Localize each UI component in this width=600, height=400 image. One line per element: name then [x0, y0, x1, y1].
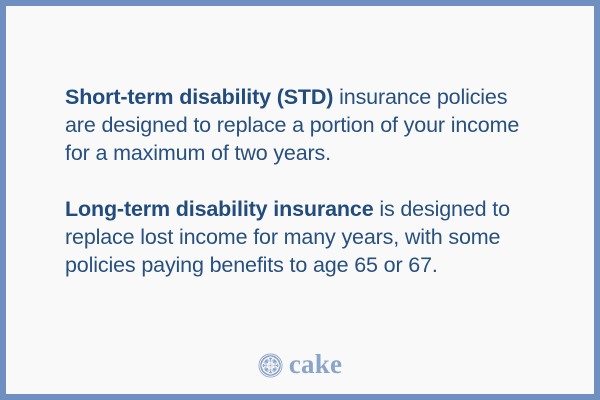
paragraph-lead-text: Long-term disability insurance: [65, 197, 374, 221]
card-content: Short-term disability (STD) insurance po…: [6, 6, 594, 279]
paragraph-lead-text: Short-term disability (STD): [65, 85, 333, 109]
cake-rosette-icon: [258, 353, 283, 378]
brand-wordmark: cake: [289, 351, 342, 380]
paragraph-short-term-disability: Short-term disability (STD) insurance po…: [65, 83, 540, 167]
paragraph-long-term-disability: Long-term disability insurance is design…: [65, 195, 540, 279]
info-card: Short-term disability (STD) insurance po…: [0, 0, 600, 400]
brand-footer: cake: [6, 351, 594, 380]
